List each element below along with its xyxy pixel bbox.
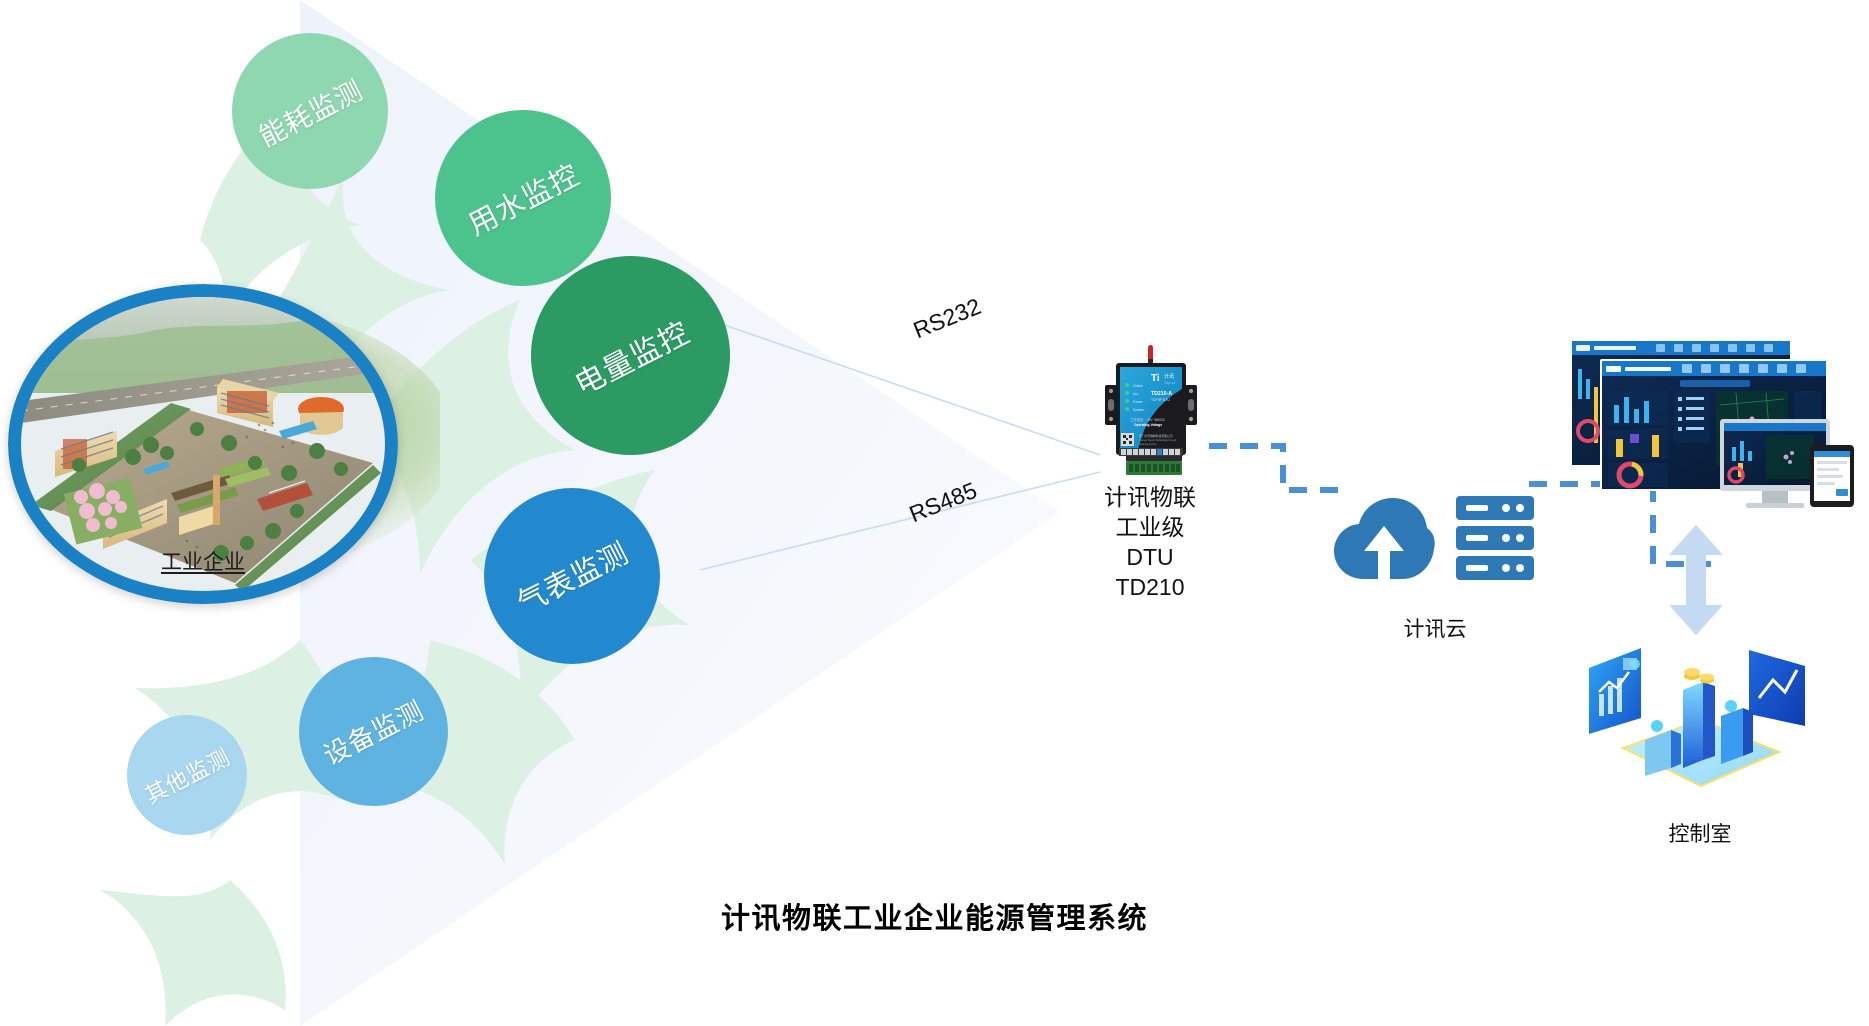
enterprise-label: 工业企业 [8, 546, 398, 576]
rs485-label: RS485 [906, 477, 981, 528]
rs232-label: RS232 [910, 293, 985, 344]
svg-text:Power: Power [1133, 400, 1143, 404]
svg-text:TCP/IP DTU: TCP/IP DTU [1151, 398, 1170, 402]
svg-text:计讯: 计讯 [1164, 373, 1174, 380]
bubble-water-monitoring[interactable]: 用水监控 [435, 110, 611, 286]
dtu-caption-line-2: 工业级 [1040, 512, 1260, 542]
svg-text:Act: Act [1133, 392, 1138, 396]
bubble-label: 气表监测 [509, 530, 635, 622]
svg-text:Online: Online [1133, 384, 1143, 388]
svg-text:Xiamen Top-iot Technology Co.,: Xiamen Top-iot Technology Co.,Ltd [1139, 439, 1177, 442]
svg-text:TD210-A: TD210-A [1151, 391, 1172, 397]
bubble-label: 电量监控 [565, 308, 695, 403]
bubble-device-monitoring[interactable]: 设备监测 [299, 657, 448, 806]
bubble-label: 其他监测 [139, 740, 236, 810]
svg-text:厦门计讯物联科技有限公司: 厦门计讯物联科技有限公司 [1139, 434, 1173, 438]
server-rack-icon[interactable] [1456, 496, 1534, 581]
page-title: 计讯物联工业企业能源管理系统 [0, 895, 1869, 937]
svg-text:工作电压：+9V~36VDC: 工作电压：+9V~36VDC [1130, 417, 1166, 422]
diagram-canvas: RS232 RS485 能耗监测 用水监控 电量监控 气表监测 设备监测 其他监… [0, 0, 1869, 1026]
control-room-label: 控制室 [1590, 818, 1810, 848]
bubble-label: 设备监测 [317, 690, 430, 772]
control-room-screens[interactable] [1570, 335, 1860, 525]
control-room-dataviz-icon[interactable] [1583, 630, 1813, 805]
bidirectional-arrow-icon [1665, 525, 1727, 635]
svg-text:Top-ct: Top-ct [1164, 380, 1176, 385]
bubble-label: 用水监控 [460, 152, 586, 244]
svg-text:Operating Voltage: Operating Voltage [1134, 423, 1162, 427]
svg-text:www.top-iot.com: www.top-iot.com [1139, 443, 1157, 446]
enterprise-node[interactable]: 工业企业 [8, 284, 398, 604]
cloud-upload-icon[interactable] [1330, 495, 1438, 585]
bubble-gas-monitoring[interactable]: 气表监测 [484, 488, 660, 664]
dtu-caption-line-1: 计讯物联 [1040, 482, 1260, 512]
dtu-device-image[interactable]: Ti 计讯 Top-ct Online Act Power System TD2… [1096, 345, 1206, 485]
svg-text:Ti: Ti [1151, 373, 1160, 384]
bubble-energy-monitoring[interactable]: 能耗监测 [232, 33, 388, 189]
bubble-other-monitoring[interactable]: 其他监测 [127, 715, 247, 835]
dtu-caption-line-3: DTU [1040, 542, 1260, 572]
bubble-power-monitoring[interactable]: 电量监控 [531, 256, 730, 455]
bubble-label: 能耗监测 [251, 68, 368, 154]
cloud-label: 计讯云 [1360, 613, 1510, 643]
svg-text:System: System [1133, 408, 1144, 412]
dtu-caption: 计讯物联 工业级 DTU TD210 [1040, 482, 1260, 602]
dtu-caption-line-4: TD210 [1040, 572, 1260, 602]
